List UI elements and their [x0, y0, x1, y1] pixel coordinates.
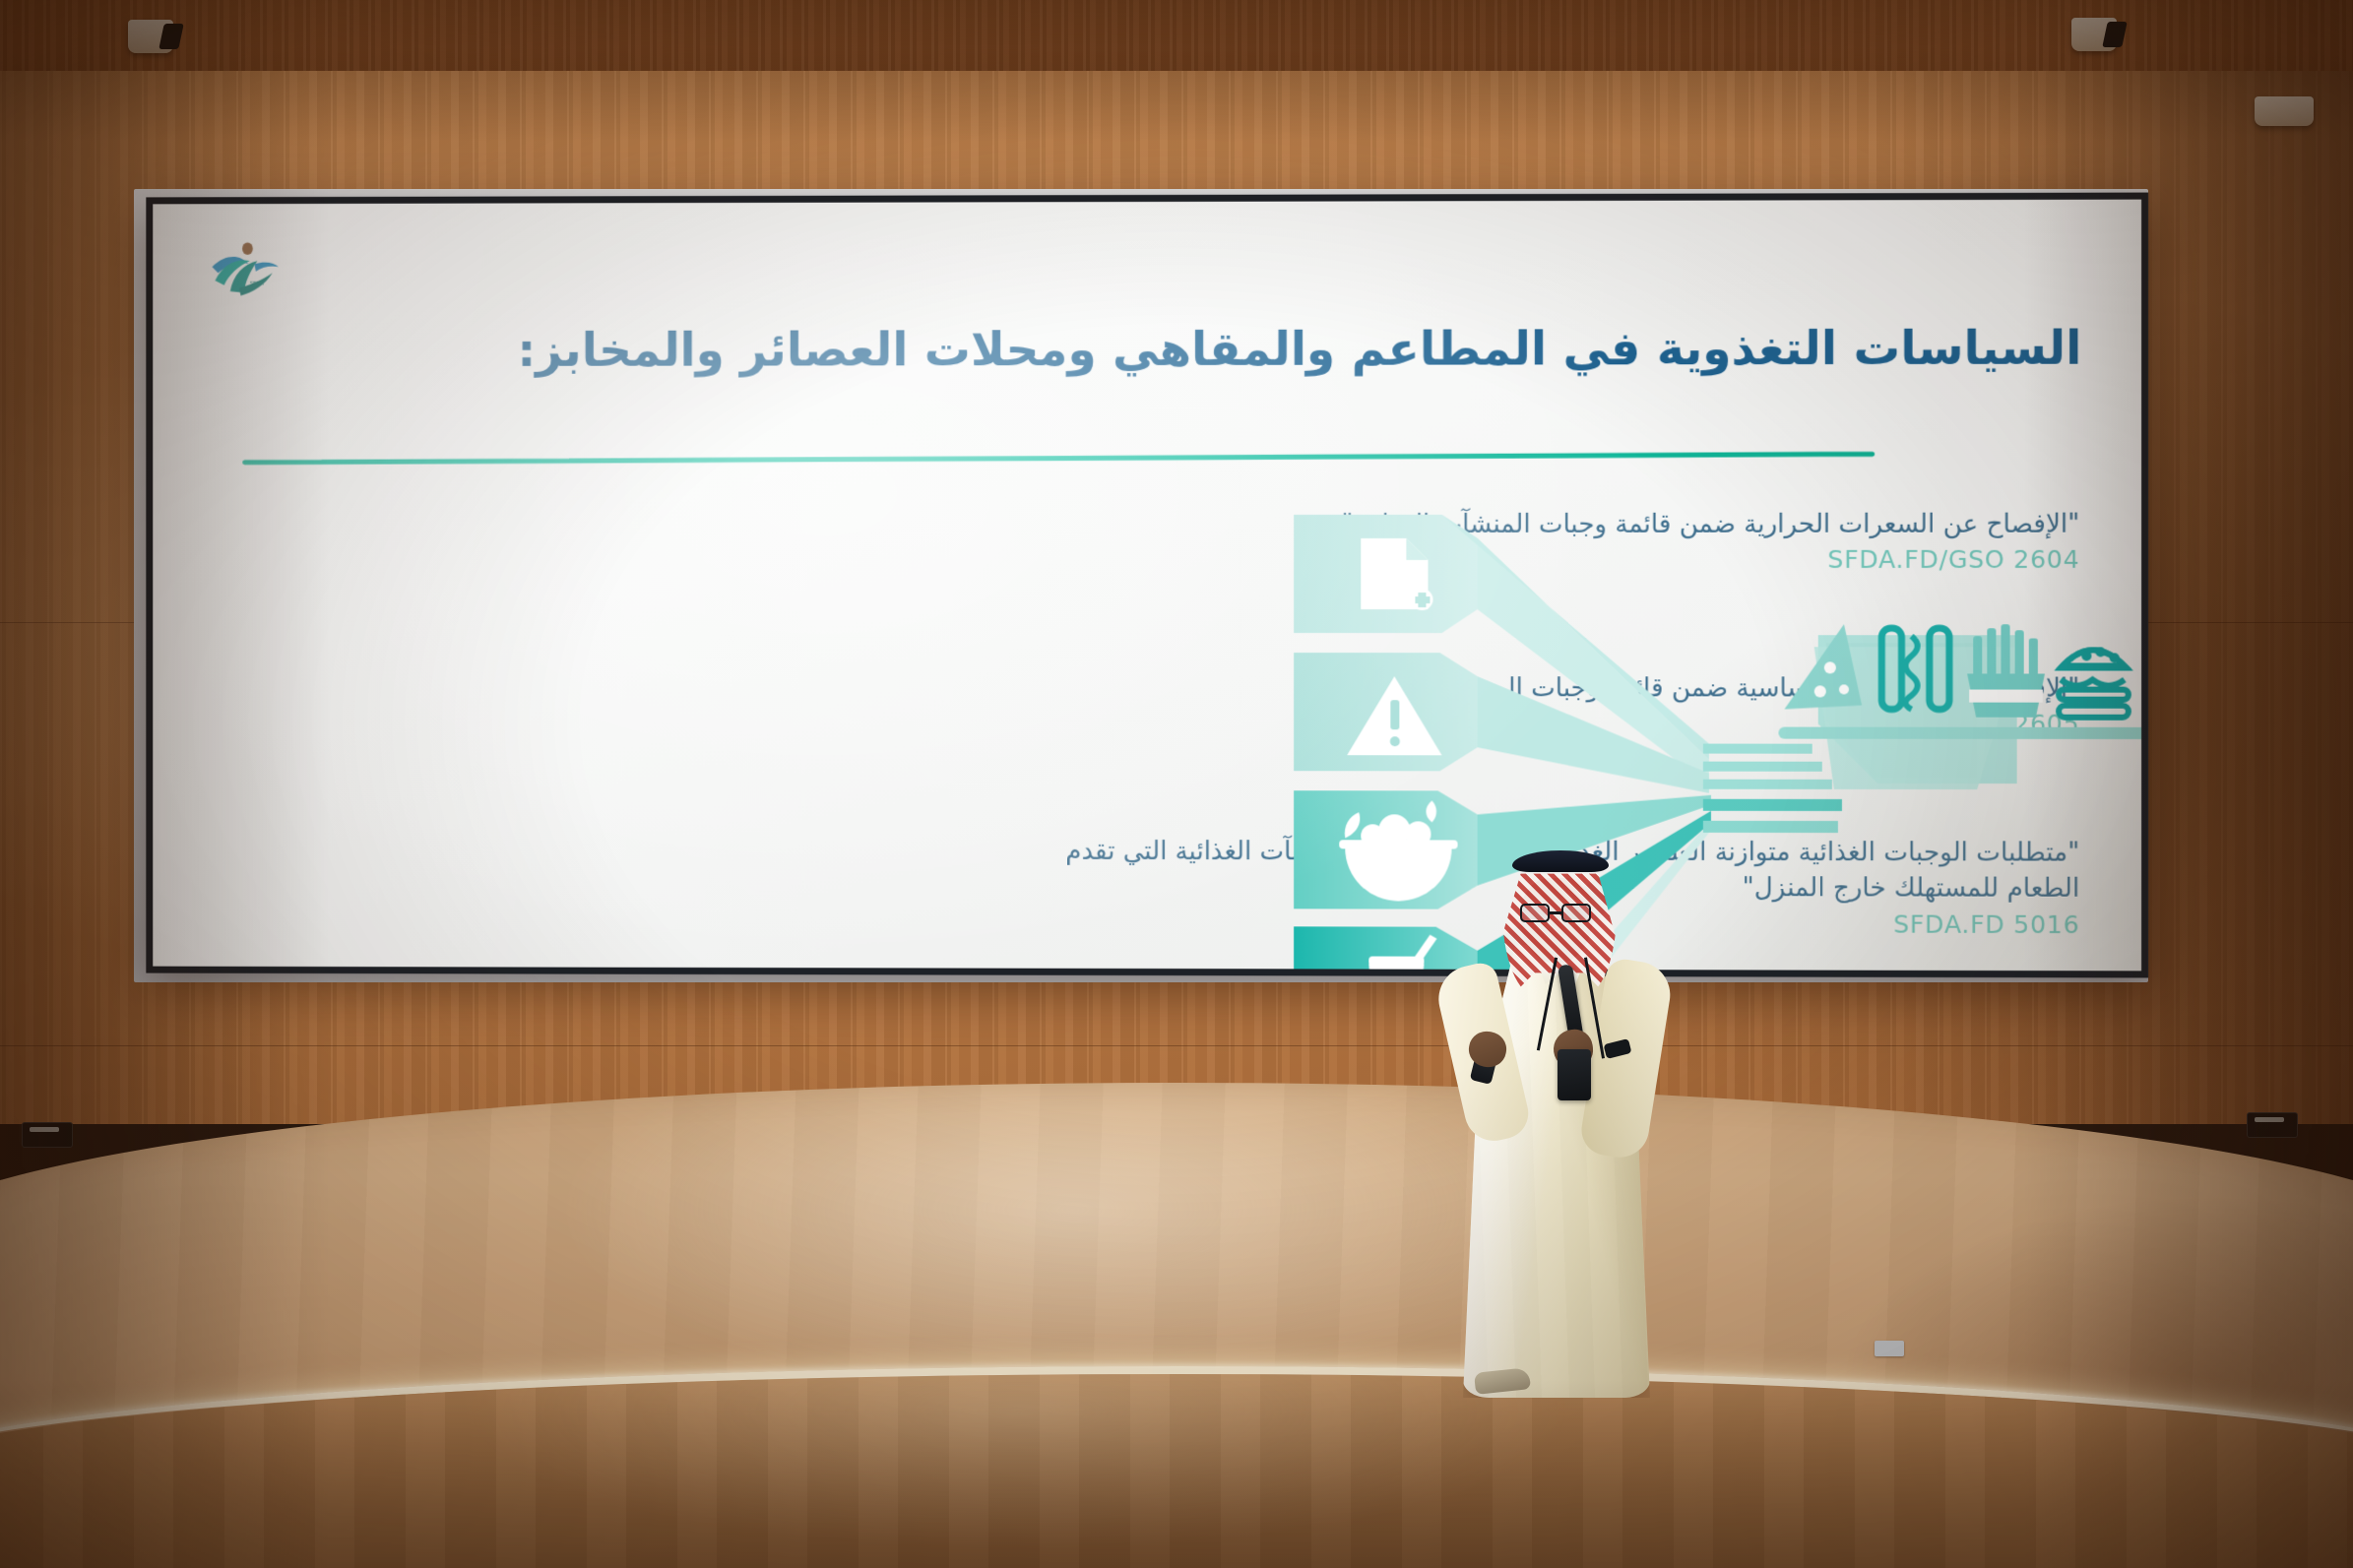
tray-shelf-line — [1778, 727, 2141, 739]
ceiling-speaker — [2071, 18, 2117, 51]
lanyard-badge — [1558, 1049, 1591, 1100]
presenter — [1430, 827, 1685, 1398]
wall-seam — [0, 1045, 2353, 1046]
slide-title: السياسات التغذوية في المطاعم والمقاهي وم… — [415, 318, 2081, 382]
igal-headband — [1512, 850, 1609, 872]
projection-screen: SFDA السياسات التغذوية في المطاعم والمقا… — [153, 200, 2141, 972]
wall-outlet-panel-left[interactable] — [22, 1122, 73, 1148]
hamburger-icon — [2059, 650, 2129, 717]
floor-socket — [1875, 1341, 1904, 1356]
eyeglasses — [1520, 904, 1593, 922]
sfda-logo: SFDA — [208, 241, 284, 302]
wall-outlet-panel-right[interactable] — [2247, 1112, 2298, 1138]
lens-right — [1561, 904, 1591, 922]
stage-riser-front — [0, 1374, 2353, 1568]
pizza-slice-icon — [1784, 624, 1862, 709]
wall-light-fixture — [2255, 96, 2314, 126]
title-underline-rule — [242, 452, 1875, 466]
auditorium-scene: SFDA السياسات التغذوية في المطاعم والمقا… — [0, 0, 2353, 1568]
glasses-bridge — [1550, 911, 1561, 914]
lens-left — [1520, 904, 1550, 922]
food-tray-graphic — [1778, 610, 2141, 759]
french-fries-icon — [1967, 624, 2045, 718]
projection-screen-frame: SFDA السياسات التغذوية في المطاعم والمقا… — [146, 193, 2148, 978]
ceiling-speaker — [128, 20, 173, 53]
upper-wood-wall — [0, 0, 2353, 79]
svg-text:SFDA: SFDA — [250, 282, 264, 287]
hot-dog-icon — [1881, 628, 1949, 709]
